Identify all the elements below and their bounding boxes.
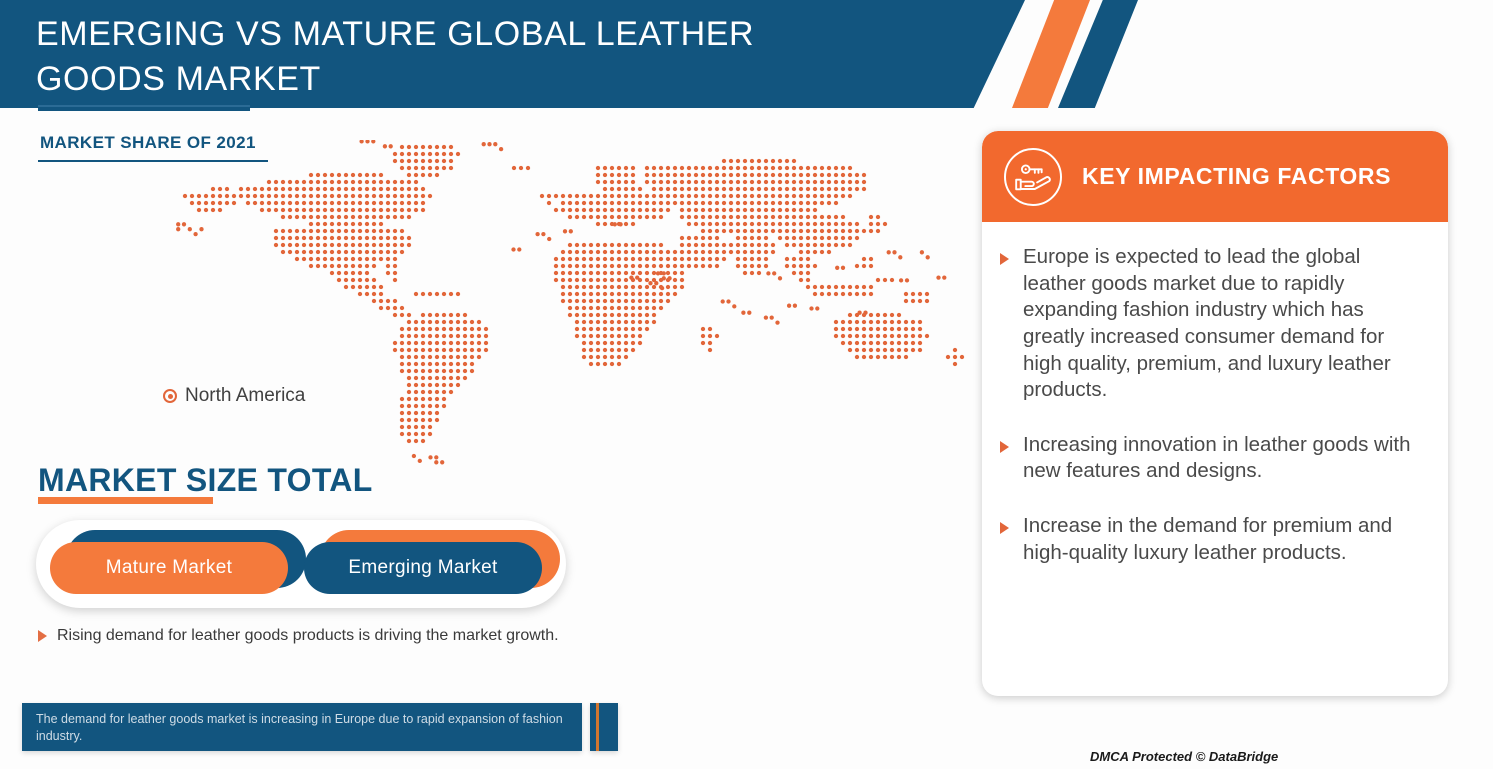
triangle-bullet-icon (38, 630, 47, 643)
triangle-bullet-icon (1000, 441, 1009, 453)
map-legend: North America (163, 385, 305, 407)
key-factor-item: Increasing innovation in leather goods w… (1000, 432, 1422, 485)
header-accent-line (38, 105, 250, 111)
key-factor-text: Increase in the demand for premium and h… (1023, 513, 1422, 566)
triangle-bullet-icon (1000, 253, 1009, 265)
hand-holding-key-icon (1004, 148, 1062, 206)
key-factors-header: KEY IMPACTING FACTORS (982, 131, 1448, 222)
pill-mature-market[interactable]: Mature Market (50, 542, 288, 594)
key-impacting-factors-panel: KEY IMPACTING FACTORS Europe is expected… (982, 131, 1448, 696)
key-factors-title: KEY IMPACTING FACTORS (1082, 163, 1391, 190)
market-size-pill-card: Mature Market Emerging Market (36, 520, 566, 608)
pill-group-mature[interactable]: Mature Market (50, 536, 295, 592)
page-title: EMERGING VS MATURE GLOBAL LEATHER GOODS … (36, 12, 856, 102)
target-circle-icon (163, 389, 177, 403)
key-factors-list: Europe is expected to lead the global le… (982, 222, 1448, 594)
footer-note-bar: The demand for leather goods market is i… (22, 703, 582, 751)
pill-emerging-market[interactable]: Emerging Market (304, 542, 542, 594)
footer-accent-tab (590, 703, 618, 751)
market-size-title: MARKET SIZE TOTAL (38, 462, 373, 499)
market-growth-bullet-text: Rising demand for leather goods products… (57, 626, 559, 647)
key-factor-item: Europe is expected to lead the global le… (1000, 244, 1422, 404)
key-factor-text: Europe is expected to lead the global le… (1023, 244, 1422, 404)
infographic-page: EMERGING VS MATURE GLOBAL LEATHER GOODS … (0, 0, 1493, 769)
footer-accent-line (596, 703, 599, 751)
header-wedge (930, 0, 1025, 108)
pill-group-emerging[interactable]: Emerging Market (304, 536, 549, 592)
footer-note-text: The demand for leather goods market is i… (36, 711, 568, 745)
copyright-text: DMCA Protected © DataBridge (1090, 749, 1278, 764)
triangle-bullet-icon (1000, 522, 1009, 534)
world-map-svg (150, 140, 980, 470)
legend-label-north-america: North America (185, 385, 305, 407)
market-growth-bullet: Rising demand for leather goods products… (38, 626, 718, 647)
key-factor-text: Increasing innovation in leather goods w… (1023, 432, 1422, 485)
market-size-underline (38, 497, 213, 504)
key-factor-item: Increase in the demand for premium and h… (1000, 513, 1422, 566)
dotted-world-map (150, 140, 980, 470)
